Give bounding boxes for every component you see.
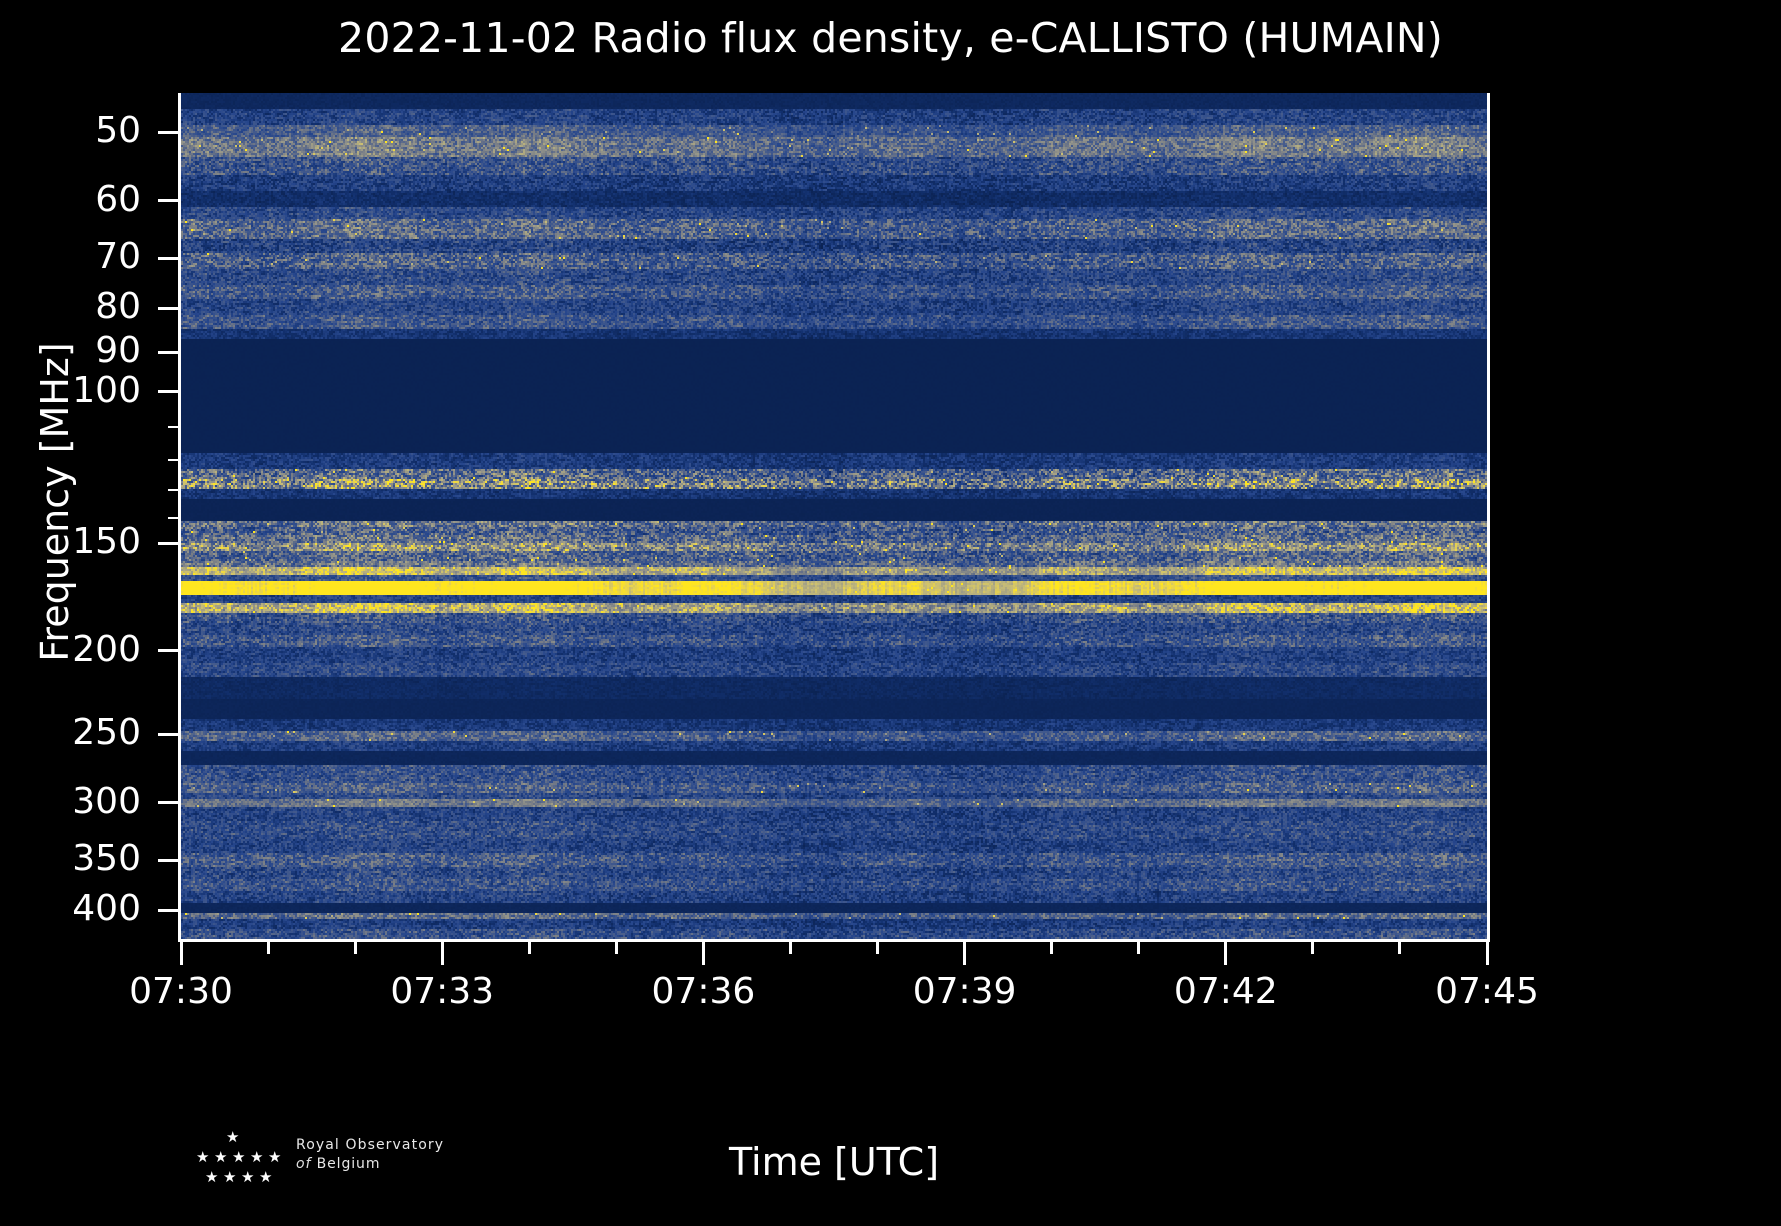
y-tick-label: 150 (72, 524, 141, 560)
logo-of-word: of (296, 1156, 311, 1172)
y-tick-label: 250 (72, 715, 141, 751)
y-tick-mark (158, 733, 180, 736)
x-tick-label: 07:42 (1174, 972, 1278, 1012)
x-tick-label: 07:39 (913, 972, 1017, 1012)
y-tick-mark (158, 131, 180, 134)
x-tick-mark (441, 941, 444, 965)
logo-line-2: of Belgium (296, 1155, 506, 1174)
stars-icon: ★★★★★★★★★★ (178, 1130, 288, 1200)
y-tick-mark (158, 307, 180, 310)
royal-observatory-logo: ★★★★★★★★★★ Royal Observatory of Belgium (178, 1130, 508, 1210)
y-tick-label: 100 (72, 373, 141, 409)
y-tick-mark (158, 351, 180, 354)
x-tick-mark-minor (354, 941, 357, 954)
x-tick-mark-minor (528, 941, 531, 954)
spectrogram-canvas[interactable] (181, 93, 1487, 939)
logo-country: Belgium (317, 1156, 381, 1172)
y-tick-label: 350 (72, 841, 141, 877)
y-tick-mark (158, 390, 180, 393)
x-tick-mark-minor (1050, 941, 1053, 954)
axis-spine-right (1487, 93, 1490, 942)
star-icon: ★ (223, 1170, 236, 1185)
star-icon: ★ (226, 1130, 239, 1145)
x-tick-mark-minor (615, 941, 618, 954)
y-tick-mark-minor (168, 459, 180, 461)
y-tick-label: 70 (95, 239, 141, 275)
star-icon: ★ (268, 1150, 281, 1165)
star-icon: ★ (214, 1150, 227, 1165)
star-icon: ★ (196, 1150, 209, 1165)
star-icon: ★ (205, 1170, 218, 1185)
x-tick-mark (963, 941, 966, 965)
spectrogram-plot-area[interactable] (181, 93, 1487, 939)
x-tick-mark (702, 941, 705, 965)
y-tick-mark (158, 909, 180, 912)
x-tick-mark (180, 941, 183, 965)
star-icon: ★ (259, 1170, 272, 1185)
x-tick-mark (1224, 941, 1227, 965)
y-tick-mark-minor (168, 489, 180, 491)
x-tick-mark-minor (876, 941, 879, 954)
y-tick-mark-minor (168, 426, 180, 428)
y-tick-mark (158, 649, 180, 652)
x-tick-label: 07:30 (129, 972, 233, 1012)
y-tick-label: 60 (95, 182, 141, 218)
y-tick-mark (158, 801, 180, 804)
x-tick-mark-minor (1398, 941, 1401, 954)
x-tick-label: 07:45 (1435, 972, 1539, 1012)
y-tick-mark (158, 257, 180, 260)
star-icon: ★ (241, 1170, 254, 1185)
logo-line-1: Royal Observatory (296, 1136, 506, 1155)
y-tick-mark (158, 542, 180, 545)
y-tick-mark-minor (168, 517, 180, 519)
x-tick-mark-minor (1137, 941, 1140, 954)
x-tick-mark-minor (1311, 941, 1314, 954)
y-axis-label: Frequency [MHz] (33, 272, 77, 732)
y-tick-label: 400 (72, 891, 141, 927)
logo-text: Royal Observatory of Belgium (296, 1136, 506, 1174)
x-tick-label: 07:33 (390, 972, 494, 1012)
y-tick-mark (158, 859, 180, 862)
x-tick-label: 07:36 (652, 972, 756, 1012)
y-tick-mark (158, 199, 180, 202)
star-icon: ★ (250, 1150, 263, 1165)
spectrogram-figure: 2022-11-02 Radio flux density, e-CALLIST… (0, 0, 1781, 1226)
x-tick-mark (1486, 941, 1489, 965)
y-tick-label: 80 (95, 289, 141, 325)
y-tick-label: 200 (72, 632, 141, 668)
y-tick-label: 90 (95, 333, 141, 369)
x-tick-mark-minor (789, 941, 792, 954)
page-title: 2022-11-02 Radio flux density, e-CALLIST… (0, 14, 1781, 62)
star-icon: ★ (232, 1150, 245, 1165)
axis-spine-bottom (178, 939, 1490, 942)
y-tick-label: 50 (95, 113, 141, 149)
x-tick-mark-minor (267, 941, 270, 954)
y-tick-label: 300 (72, 784, 141, 820)
